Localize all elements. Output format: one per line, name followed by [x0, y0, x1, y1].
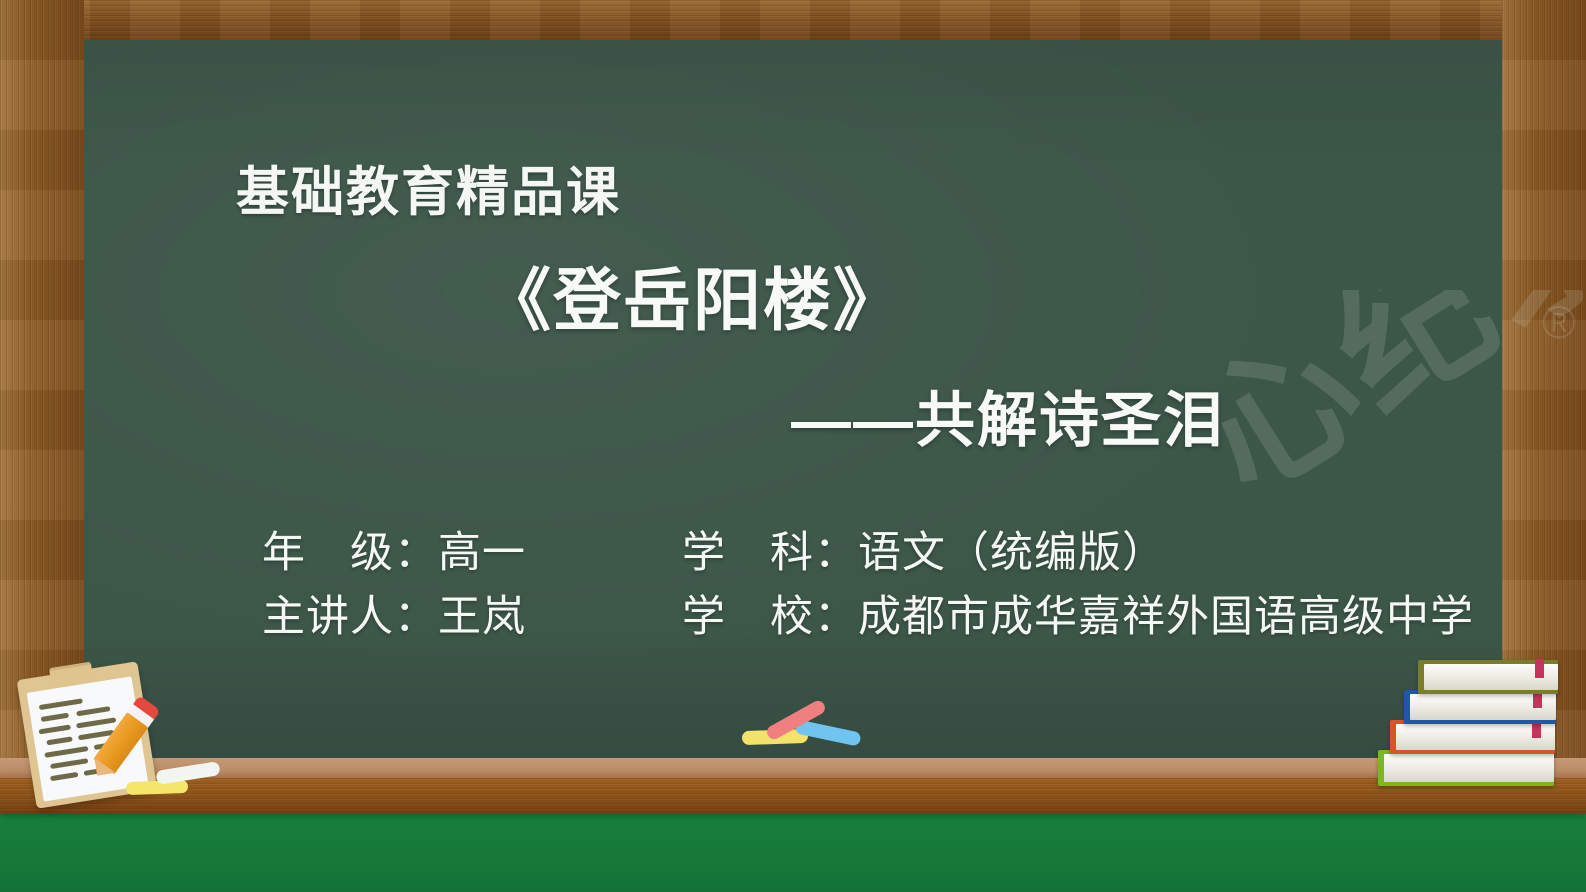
slide-title: 《登岳阳楼》 [84, 245, 1502, 344]
metadata-value-grade: 高一 [438, 530, 526, 577]
metadata-cell-grade: 年 级：高一 [262, 522, 682, 586]
metadata-value-presenter: 王岚 [438, 594, 526, 641]
chalk-stick-white [155, 761, 220, 785]
wall-background [0, 808, 1586, 892]
frame-top-rail [0, 0, 1586, 40]
chalkboard-surface: 心纪录 ® 基础教育精品课 《登岳阳楼》 ——共解诗圣泪 年 级：高一 学 科：… [84, 40, 1502, 758]
metadata-value-subject: 语文（统编版） [858, 530, 1166, 577]
metadata-cell-presenter: 主讲人：王岚 [262, 586, 682, 650]
chalk-stick-yellow [126, 780, 188, 795]
book-olive [1418, 660, 1558, 694]
slide-subtitle: ——共解诗圣泪 [84, 372, 1502, 459]
decor-book-stack [1376, 628, 1566, 810]
metadata-label-grade: 年 级： [262, 522, 438, 586]
metadata-label-subject: 学 科： [682, 522, 858, 586]
metadata-cell-subject: 学 科：语文（统编版） [682, 522, 1542, 586]
metadata-row: 年 级：高一 学 科：语文（统编版） [262, 522, 1542, 586]
metadata-label-school: 学 校： [682, 586, 858, 650]
book-green [1378, 750, 1554, 786]
slide-canvas: 心纪录 ® 基础教育精品课 《登岳阳楼》 ——共解诗圣泪 年 级：高一 学 科：… [0, 0, 1586, 892]
slide-kicker: 基础教育精品课 [236, 150, 621, 226]
decor-clipboard-group [8, 640, 268, 815]
metadata-row: 主讲人：王岚 学 校：成都市成华嘉祥外国语高级中学 [262, 586, 1542, 650]
slide-metadata: 年 级：高一 学 科：语文（统编版） 主讲人：王岚 学 校：成都市成华嘉祥外国语… [262, 522, 1542, 650]
book-blue [1404, 690, 1556, 724]
chalk-stick-blue [794, 719, 861, 746]
decor-chalk-group [742, 704, 872, 749]
metadata-label-presenter: 主讲人： [262, 586, 438, 650]
book-orange [1390, 720, 1555, 754]
